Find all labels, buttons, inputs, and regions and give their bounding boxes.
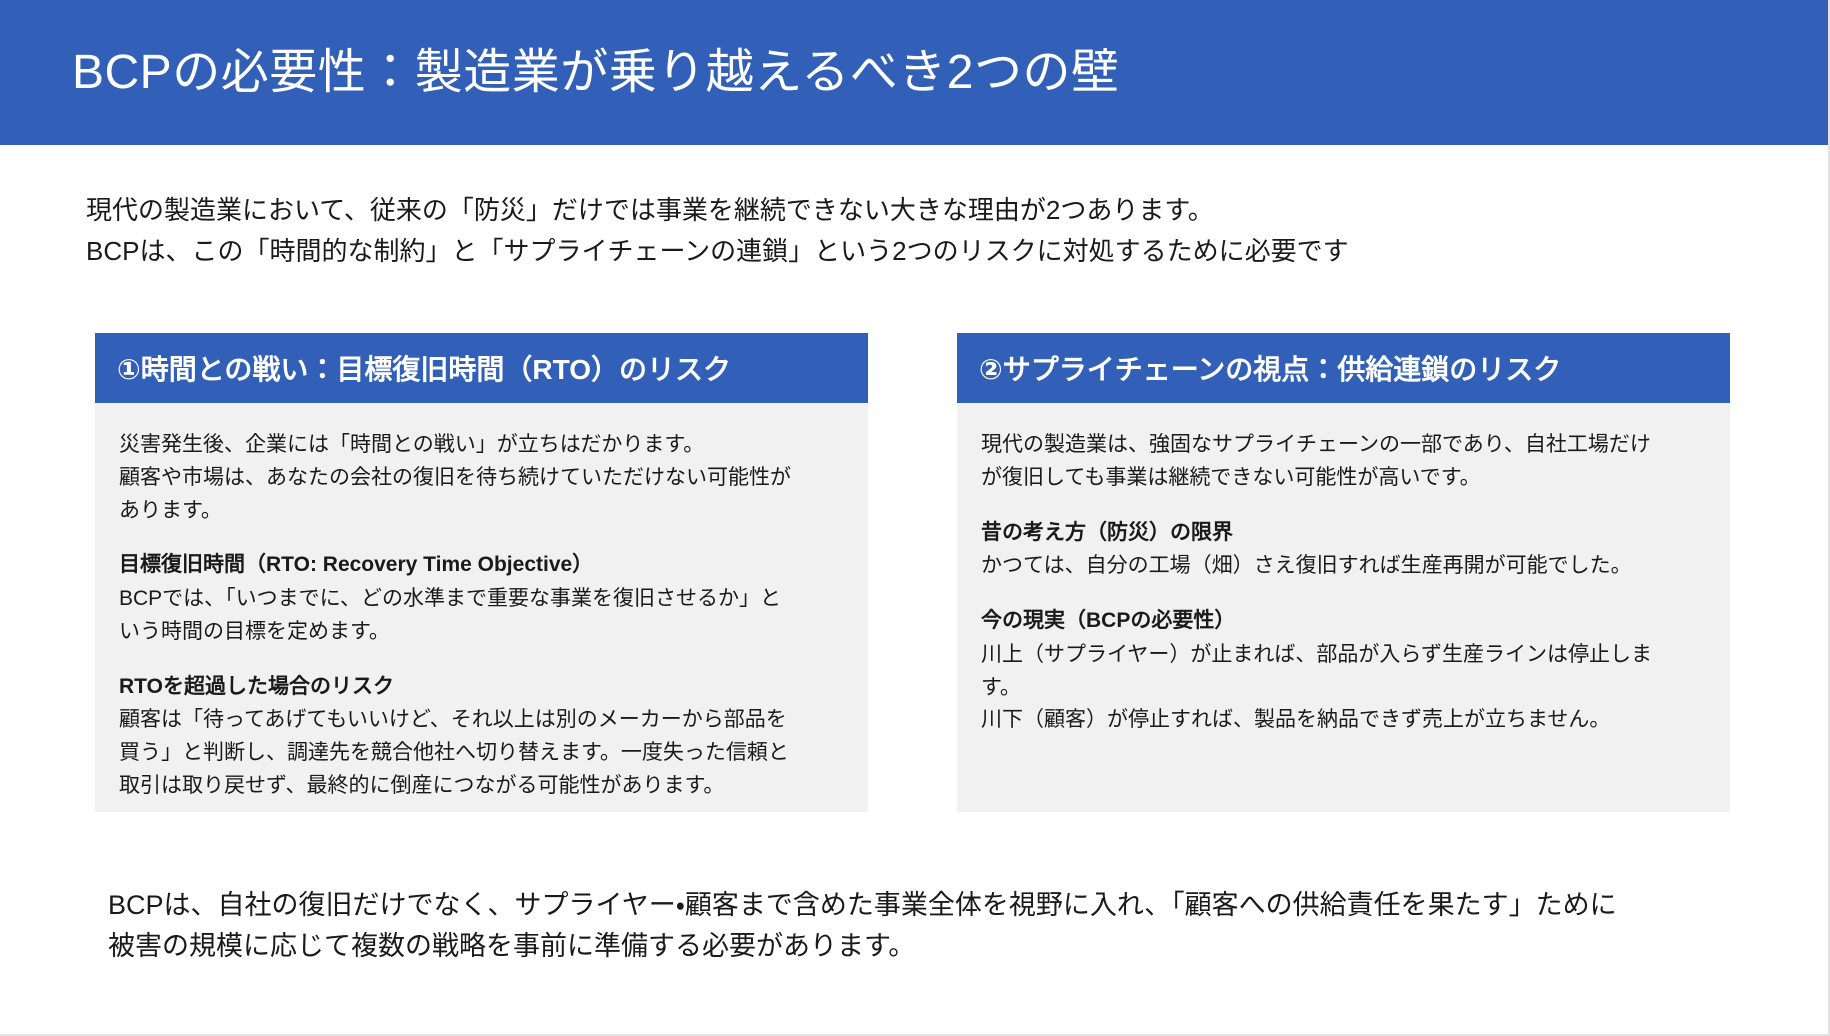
card-block-line-2: す。 <box>981 676 1021 699</box>
card-header-supply-chain-risk: ②サプライチェーンの視点：供給連鎖のリスク <box>957 333 1730 403</box>
card-block-heading: 目標復旧時間（RTO: Recovery Time Objective） <box>119 549 844 582</box>
card-block-heading: 昔の考え方（防災）の限界 <box>981 517 1706 550</box>
card-block-body: 顧客は「待ってあげてもいいけど、それ以上は別のメーカーから部品を 買う」と判断し… <box>119 704 844 802</box>
card-rto-risk: ①時間との戦い：目標復旧時間（RTO）のリスク 災害発生後、企業には「時間との戦… <box>95 333 868 812</box>
card-block-line-3: 川下（顧客）が停止すれば、製品を納品できず売上が立ちません。 <box>981 708 1610 731</box>
card-block-line-1: 川上（サプライヤー）が止まれば、部品が入らず生産ラインは停止しま <box>981 643 1652 666</box>
page-title: BCPの必要性：製造業が乗り越えるべき2つの壁 <box>0 45 1119 100</box>
card-block: 昔の考え方（防災）の限界 かつては、自分の工場（畑）さえ復旧すれば生産再開が可能… <box>981 517 1706 584</box>
slide-canvas: BCPの必要性：製造業が乗り越えるべき2つの壁 現代の製造業において、従来の「防… <box>0 0 1830 1036</box>
card-block: 今の現実（BCPの必要性） 川上（サプライヤー）が止まれば、部品が入らず生産ライ… <box>981 605 1706 737</box>
card-block-heading: RTOを超過した場合のリスク <box>119 671 844 704</box>
card-intro-line-1: 現代の製造業は、強固なサプライチェーンの一部であり、自社工場だけ <box>981 433 1651 456</box>
slide-title-bar: BCPの必要性：製造業が乗り越えるべき2つの壁 <box>0 0 1830 145</box>
card-block: 目標復旧時間（RTO: Recovery Time Objective） BCP… <box>119 549 844 648</box>
card-intro-line-1: 災害発生後、企業には「時間との戦い」が立ちはだかります。 <box>119 433 704 456</box>
card-body-supply-chain-risk: 現代の製造業は、強固なサプライチェーンの一部であり、自社工場だけ が復旧しても事… <box>957 403 1730 812</box>
summary-line-1: BCPは、自社の復旧だけでなく、サプライヤー・顧客まで含めた事業全体を視野に入れ… <box>108 885 1728 926</box>
card-intro-line-3: あります。 <box>119 499 222 522</box>
card-block-line-3: 取引は取り戻せず、最終的に倒産につながる可能性があります。 <box>119 774 724 797</box>
card-supply-chain-risk: ②サプライチェーンの視点：供給連鎖のリスク 現代の製造業は、強固なサプライチェー… <box>957 333 1730 812</box>
summary-paragraph: BCPは、自社の復旧だけでなく、サプライヤー・顧客まで含めた事業全体を視野に入れ… <box>108 885 1728 966</box>
card-block-line-2: いう時間の目標を定めます。 <box>119 620 390 643</box>
intro-line-1: 現代の製造業において、従来の「防災」だけでは事業を継続できない大きな理由が2つあ… <box>86 190 1686 231</box>
card-intro-line-2: が復旧しても事業は継続できない可能性が高いです。 <box>981 466 1481 489</box>
summary-line-2: 被害の規模に応じて複数の戦略を事前に準備する必要があります。 <box>108 926 1728 967</box>
intro-line-2: BCPは、この「時間的な制約」と「サプライチェーンの連鎖」という2つのリスクに対… <box>86 231 1686 272</box>
card-header-rto-risk: ①時間との戦い：目標復旧時間（RTO）のリスク <box>95 333 868 403</box>
card-block-line-2: 買う」と判断し、調達先を競合他社へ切り替えます。一度失った信頼と <box>119 741 789 764</box>
card-block-body: BCPでは、「いつまでに、どの水準まで重要な事業を復旧させるか」と いう時間の目… <box>119 583 844 649</box>
card-block-line-1: かつては、自分の工場（畑）さえ復旧すれば生産再開が可能でした。 <box>981 554 1632 577</box>
intro-paragraph: 現代の製造業において、従来の「防災」だけでは事業を継続できない大きな理由が2つあ… <box>86 190 1686 272</box>
card-block-body: かつては、自分の工場（畑）さえ復旧すれば生産再開が可能でした。 <box>981 550 1706 583</box>
card-body-rto-risk: 災害発生後、企業には「時間との戦い」が立ちはだかります。 顧客や市場は、あなたの… <box>95 403 868 812</box>
card-intro-line-2: 顧客や市場は、あなたの会社の復旧を待ち続けていただけない可能性が <box>119 466 791 489</box>
card-block-body: 川上（サプライヤー）が止まれば、部品が入らず生産ラインは停止しま す。 川下（顧… <box>981 639 1706 737</box>
card-block-line-1: BCPでは、「いつまでに、どの水準まで重要な事業を復旧させるか」と <box>119 587 781 610</box>
card-block-heading: 今の現実（BCPの必要性） <box>981 605 1706 638</box>
card-intro-text: 現代の製造業は、強固なサプライチェーンの一部であり、自社工場だけ が復旧しても事… <box>981 429 1706 495</box>
card-block: RTOを超過した場合のリスク 顧客は「待ってあげてもいいけど、それ以上は別のメー… <box>119 671 844 803</box>
card-block-line-1: 顧客は「待ってあげてもいいけど、それ以上は別のメーカーから部品を <box>119 708 787 731</box>
card-intro-text: 災害発生後、企業には「時間との戦い」が立ちはだかります。 顧客や市場は、あなたの… <box>119 429 844 527</box>
